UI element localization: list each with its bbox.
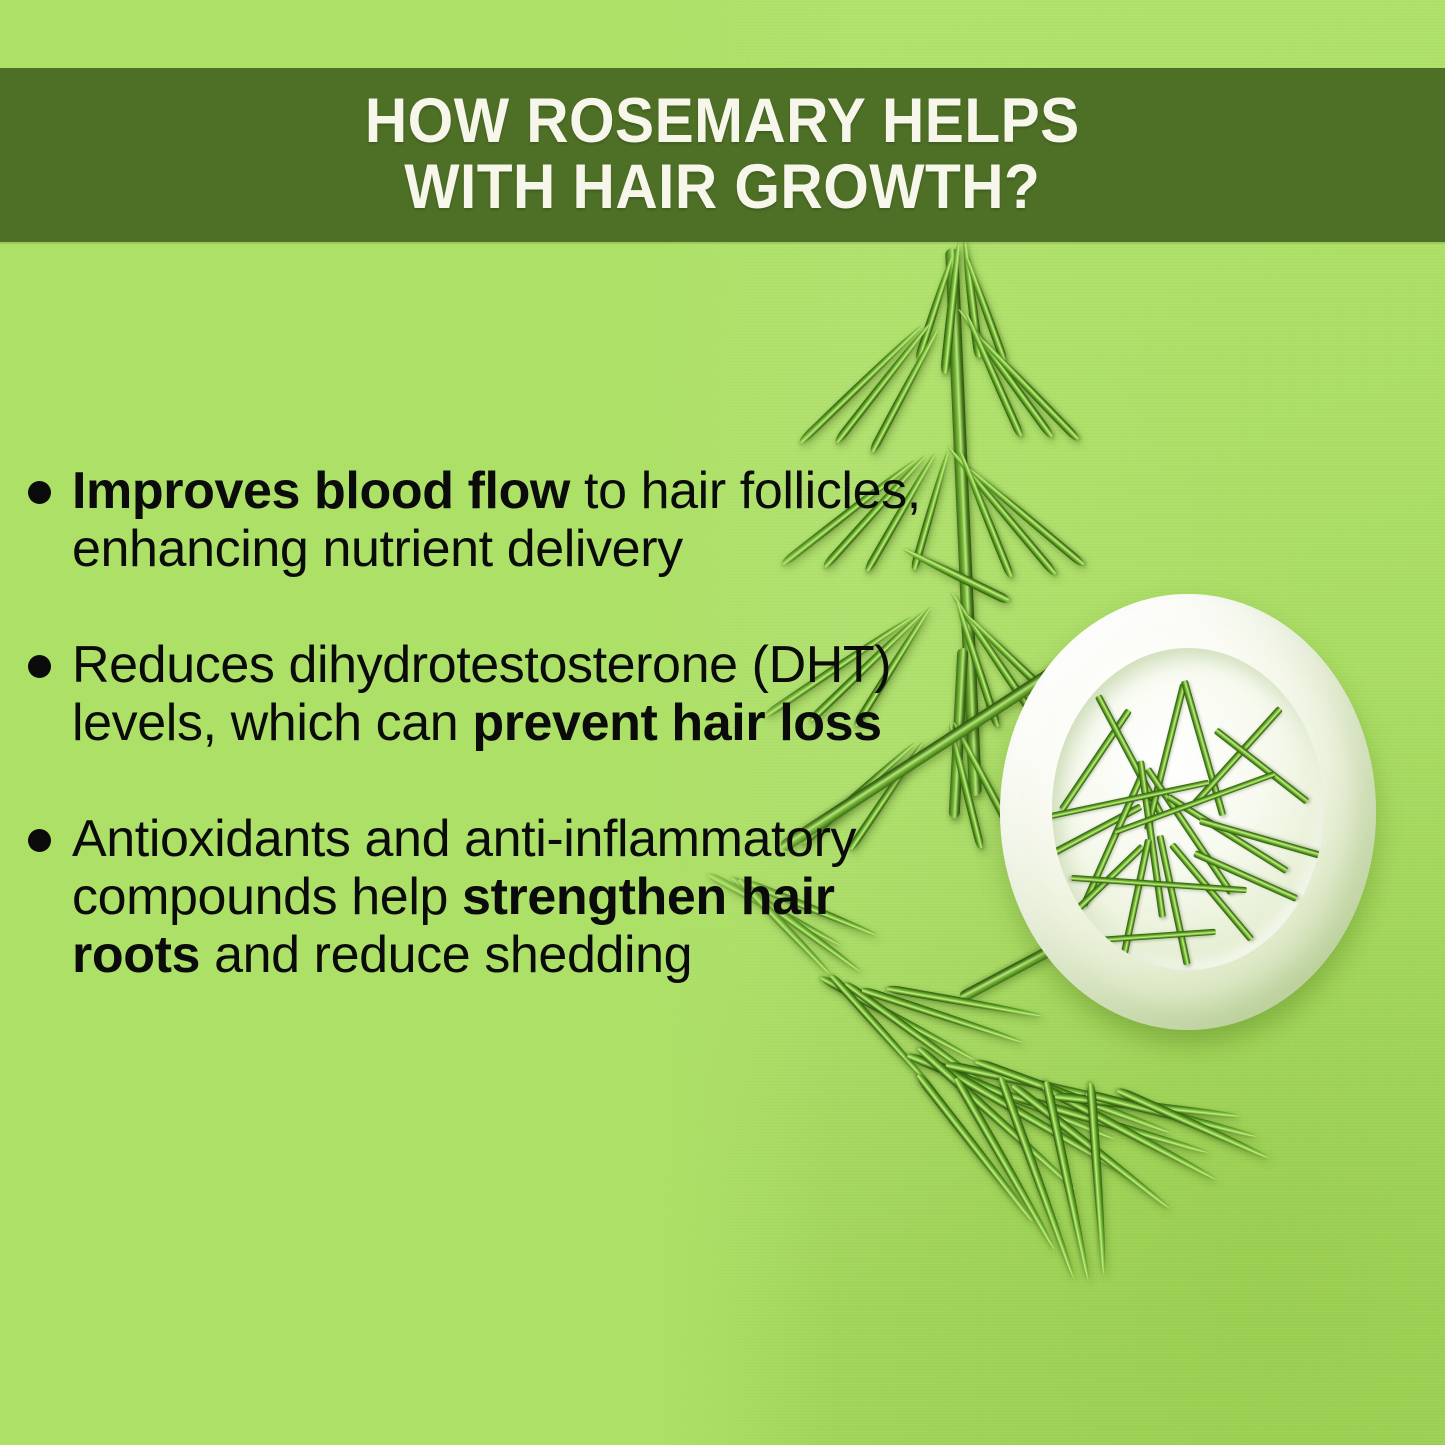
bowl-shadow xyxy=(1006,616,1382,1046)
chopped-needle xyxy=(1114,771,1276,835)
needle xyxy=(834,321,933,444)
bullet-dot-icon xyxy=(28,829,51,852)
needle xyxy=(997,1076,1079,1280)
needle xyxy=(955,307,1054,440)
chopped-needle xyxy=(1192,706,1283,806)
benefits-list: Improves blood flow to hair follicles, e… xyxy=(22,462,922,984)
needle xyxy=(973,332,1080,443)
chopped-needle xyxy=(1059,708,1132,811)
needle xyxy=(950,720,1024,849)
bullet-text-3: Antioxidants and anti-inflammatory compo… xyxy=(72,810,856,984)
needle xyxy=(953,600,1001,728)
needle xyxy=(945,1060,1158,1114)
list-item: Reduces dihydrotestosterone (DHT) levels… xyxy=(22,636,922,752)
needle xyxy=(887,984,1044,1019)
needle xyxy=(944,443,1058,577)
needle xyxy=(974,1057,1173,1137)
needle xyxy=(915,255,956,360)
needle xyxy=(819,974,978,1064)
bullet-dot-icon xyxy=(28,481,51,504)
bullet-1-bold-part: Improves blood flow xyxy=(72,462,570,520)
needle xyxy=(962,611,1071,717)
needle xyxy=(843,980,998,1096)
chopped-needle xyxy=(1119,839,1152,964)
chopped-needle xyxy=(1071,875,1247,893)
needle xyxy=(945,721,984,849)
chopped-needle xyxy=(1156,835,1190,966)
needle xyxy=(1010,1082,1173,1212)
rosemary-sprig-top xyxy=(905,248,1165,808)
list-item: Improves blood flow to hair follicles, e… xyxy=(22,462,922,578)
chopped-needle xyxy=(1066,929,1216,945)
needle xyxy=(1041,1083,1218,1183)
bullet-2-bold-part: prevent hair loss xyxy=(472,694,881,752)
white-bowl xyxy=(1000,594,1376,1030)
chopped-needle xyxy=(1145,767,1235,895)
chopped-needle xyxy=(1137,760,1166,917)
needle xyxy=(927,1056,1136,1182)
bowl-interior xyxy=(1052,648,1324,970)
needle xyxy=(798,323,924,445)
bullet-text-1: Improves blood flow to hair follicles, e… xyxy=(72,462,921,578)
needle xyxy=(962,254,1008,362)
needle xyxy=(915,1072,1037,1224)
bullet-text-2: Reduces dihydrotestosterone (DHT) levels… xyxy=(72,636,891,752)
chopped-needle xyxy=(1199,818,1320,859)
chopped-needle xyxy=(1081,771,1147,907)
needle xyxy=(1086,1083,1108,1275)
chopped-needle xyxy=(1166,794,1288,874)
sprig-stem xyxy=(945,248,982,796)
bowl-rim xyxy=(1000,594,1376,1030)
needle xyxy=(869,326,942,453)
chopped-needle xyxy=(1169,842,1254,941)
header-banner: HOW ROSEMARY HELPS WITH HAIR GROWTH? xyxy=(0,68,1445,242)
needle xyxy=(1085,1089,1258,1140)
bullet-dot-icon xyxy=(28,655,51,678)
needle xyxy=(828,973,941,1097)
needle xyxy=(952,1076,1059,1252)
chopped-needle xyxy=(1052,803,1143,870)
poster-root: HOW ROSEMARY HELPS WITH HAIR GROWTH? Imp… xyxy=(0,0,1445,1445)
page-title: HOW ROSEMARY HELPS WITH HAIR GROWTH? xyxy=(328,89,1117,220)
list-item: Antioxidants and anti-inflammatory compo… xyxy=(22,810,922,984)
sprig-stem-2 xyxy=(958,852,1228,1003)
needle xyxy=(962,310,1025,437)
sprig-stem-lower xyxy=(949,648,969,818)
needle xyxy=(1042,1080,1093,1281)
bullet-3-plain-part-b: and reduce shedding xyxy=(200,926,692,984)
needle xyxy=(947,589,1043,726)
needle xyxy=(861,986,1025,1046)
needle xyxy=(964,464,1086,568)
chopped-needle xyxy=(1095,694,1164,816)
needle xyxy=(960,238,984,358)
chopped-needle xyxy=(1052,780,1210,825)
needle xyxy=(955,448,1014,579)
needle xyxy=(916,1045,1080,1194)
chopped-needle xyxy=(1054,844,1145,932)
chopped-needle xyxy=(1214,728,1310,805)
needle xyxy=(1009,1091,1210,1156)
needle xyxy=(1055,1092,1241,1120)
needle xyxy=(906,1051,1117,1143)
chopped-needle xyxy=(1193,850,1298,902)
chopped-needle xyxy=(1181,680,1226,817)
chopped-needle xyxy=(1144,683,1187,830)
needle xyxy=(940,242,963,374)
needle xyxy=(1116,1086,1271,1162)
